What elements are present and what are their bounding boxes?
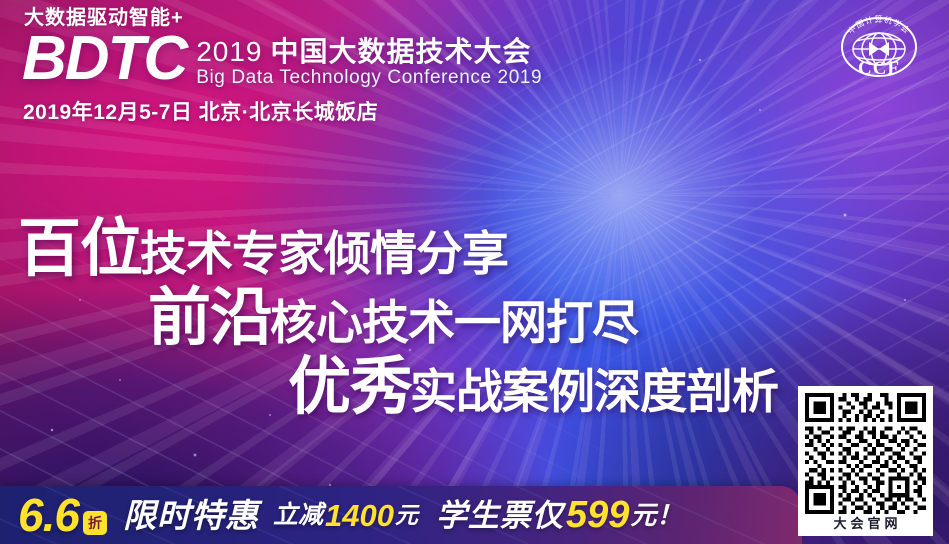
bdtc-wordmark: BDTC [22, 30, 186, 87]
reduce-amount: 1400 [325, 500, 394, 531]
qr-code-card[interactable]: 大会官网 [798, 386, 933, 536]
slogan-2-text: 核心技术一网打尽 [270, 299, 638, 346]
student-price-prefix: 学生票仅 [436, 500, 564, 531]
slogan-line-1: 百位 技术专家倾情分享 [18, 218, 949, 281]
slogan-line-2: 前沿 核心技术一网打尽 [148, 287, 949, 350]
slogan-3-text: 实战案例深度剖析 [410, 368, 778, 415]
header-block: 大数据驱动智能+ BDTC 2019中国大数据技术大会 Big Data Tec… [22, 8, 542, 126]
qr-code-label: 大会官网 [805, 514, 926, 534]
slogan-1-highlight: 百位 [18, 218, 142, 281]
slogan-2-highlight: 前沿 [148, 287, 272, 350]
slogan-3-highlight: 优秀 [288, 356, 412, 419]
student-price-unit: 元！ [630, 502, 682, 528]
date-venue-line: 2019年12月5-7日 北京·北京长城饭店 [23, 96, 542, 126]
conference-title-en: Big Data Technology Conference 2019 [196, 67, 542, 90]
promo-bar: 6.6 折 限时特惠 立减 1400 元 学生票仅 599 元！ [0, 486, 802, 544]
limited-offer-text: 限时特惠 [123, 499, 259, 532]
conference-title-cn-text: 中国大数据技术大会 [271, 36, 532, 67]
ccf-logo: 中国计算机学会 CCF [827, 10, 931, 84]
discount-unit-badge: 折 [83, 511, 107, 535]
bdtc-conference-banner: 大数据驱动智能+ BDTC 2019中国大数据技术大会 Big Data Tec… [0, 0, 949, 544]
conference-title-cn: 2019中国大数据技术大会 [196, 37, 542, 66]
svg-text:CCF: CCF [858, 58, 900, 79]
title-block: 2019中国大数据技术大会 Big Data Technology Confer… [196, 30, 542, 90]
reduce-prefix-text: 立减 [273, 503, 323, 528]
student-price-amount: 599 [566, 496, 629, 534]
conference-year: 2019 [196, 36, 262, 67]
reduce-unit: 元 [395, 504, 418, 527]
logo-row: BDTC 2019中国大数据技术大会 Big Data Technology C… [22, 30, 542, 90]
discount-number: 6.6 [18, 492, 79, 538]
promo-content: 6.6 折 限时特惠 立减 1400 元 学生票仅 599 元！ [18, 492, 682, 538]
slogan-1-text: 技术专家倾情分享 [140, 230, 508, 277]
qr-code-image[interactable] [805, 393, 926, 514]
